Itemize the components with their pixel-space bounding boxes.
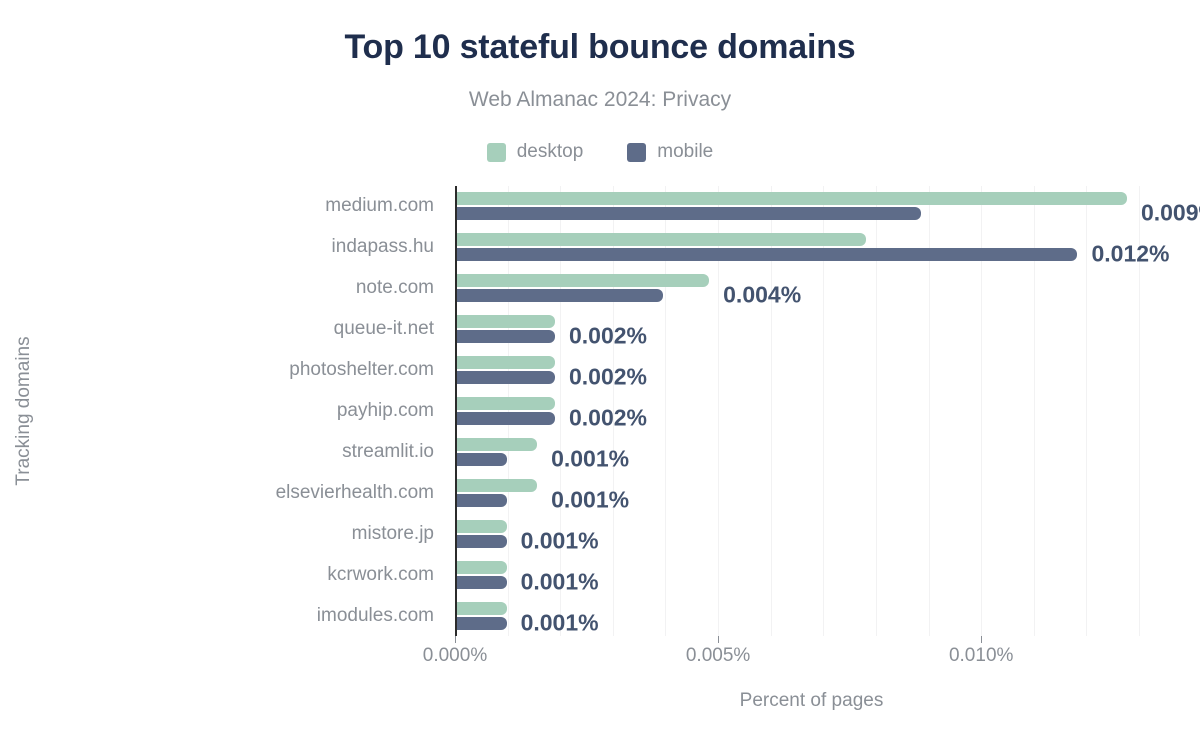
y-axis-title: Tracking domains xyxy=(13,336,35,485)
bar-value-label: 0.004% xyxy=(723,282,801,309)
bar-value-label: 0.002% xyxy=(569,364,647,391)
bar-mobile[interactable] xyxy=(455,617,507,630)
bar-value-label: 0.009% xyxy=(1141,200,1200,227)
x-tick-mark xyxy=(455,636,456,643)
x-tick-mark xyxy=(718,636,719,643)
chart-subtitle: Web Almanac 2024: Privacy xyxy=(0,88,1200,112)
bar-mobile[interactable] xyxy=(455,330,555,343)
bar-mobile[interactable] xyxy=(455,494,507,507)
bar-mobile[interactable] xyxy=(455,535,507,548)
x-axis-ticks: 0.000%0.005%0.010% xyxy=(455,636,1168,676)
bar-desktop[interactable] xyxy=(455,233,866,246)
bar-value-label: 0.001% xyxy=(551,486,629,513)
bar-mobile[interactable] xyxy=(455,207,921,220)
bar-value-label: 0.002% xyxy=(569,323,647,350)
gridline xyxy=(1086,186,1087,636)
x-tick-label: 0.005% xyxy=(686,645,750,667)
bar-mobile[interactable] xyxy=(455,453,507,466)
y-axis-label: imodules.com xyxy=(317,605,434,627)
legend-item-mobile[interactable]: mobile xyxy=(627,141,713,163)
bar-desktop[interactable] xyxy=(455,602,507,615)
bar-mobile[interactable] xyxy=(455,371,555,384)
y-axis-label: medium.com xyxy=(325,195,434,217)
plot-area: 0.009%0.012%0.004%0.002%0.002%0.002%0.00… xyxy=(455,186,1168,636)
legend-swatch-desktop xyxy=(487,143,506,162)
y-axis-label: queue-it.net xyxy=(334,318,434,340)
y-axis-label: photoshelter.com xyxy=(289,359,434,381)
y-axis-label: payhip.com xyxy=(337,400,434,422)
y-axis-category-labels: medium.comindapass.hunote.comqueue-it.ne… xyxy=(0,186,440,636)
chart-legend: desktop mobile xyxy=(0,141,1200,163)
x-tick-label: 0.000% xyxy=(423,645,487,667)
bar-desktop[interactable] xyxy=(455,192,1127,205)
chart-figure: Top 10 stateful bounce domains Web Alman… xyxy=(0,0,1200,742)
bar-desktop[interactable] xyxy=(455,479,537,492)
x-axis-title: Percent of pages xyxy=(455,690,1168,712)
bar-mobile[interactable] xyxy=(455,289,663,302)
bar-desktop[interactable] xyxy=(455,315,555,328)
bar-value-label: 0.001% xyxy=(521,568,599,595)
y-axis-label: note.com xyxy=(356,277,434,299)
bar-desktop[interactable] xyxy=(455,397,555,410)
bar-mobile[interactable] xyxy=(455,248,1077,261)
legend-item-desktop[interactable]: desktop xyxy=(487,141,584,163)
y-axis-label: streamlit.io xyxy=(342,441,434,463)
y-axis-label: indapass.hu xyxy=(332,236,434,258)
bar-desktop[interactable] xyxy=(455,356,555,369)
legend-label-desktop: desktop xyxy=(517,141,584,163)
y-axis-label: elsevierhealth.com xyxy=(276,482,434,504)
chart-title: Top 10 stateful bounce domains xyxy=(0,28,1200,67)
y-axis-label: kcrwork.com xyxy=(327,564,434,586)
bar-value-label: 0.002% xyxy=(569,405,647,432)
bar-value-label: 0.012% xyxy=(1091,241,1169,268)
bar-desktop[interactable] xyxy=(455,520,507,533)
bar-desktop[interactable] xyxy=(455,274,709,287)
y-axis-line xyxy=(455,186,457,636)
bar-value-label: 0.001% xyxy=(521,609,599,636)
bar-desktop[interactable] xyxy=(455,438,537,451)
bar-mobile[interactable] xyxy=(455,576,507,589)
legend-swatch-mobile xyxy=(627,143,646,162)
x-tick-mark xyxy=(981,636,982,643)
bar-desktop[interactable] xyxy=(455,561,507,574)
x-tick-label: 0.010% xyxy=(949,645,1013,667)
bar-value-label: 0.001% xyxy=(521,527,599,554)
bar-mobile[interactable] xyxy=(455,412,555,425)
bar-value-label: 0.001% xyxy=(551,445,629,472)
y-axis-label: mistore.jp xyxy=(352,523,434,545)
legend-label-mobile: mobile xyxy=(657,141,713,163)
